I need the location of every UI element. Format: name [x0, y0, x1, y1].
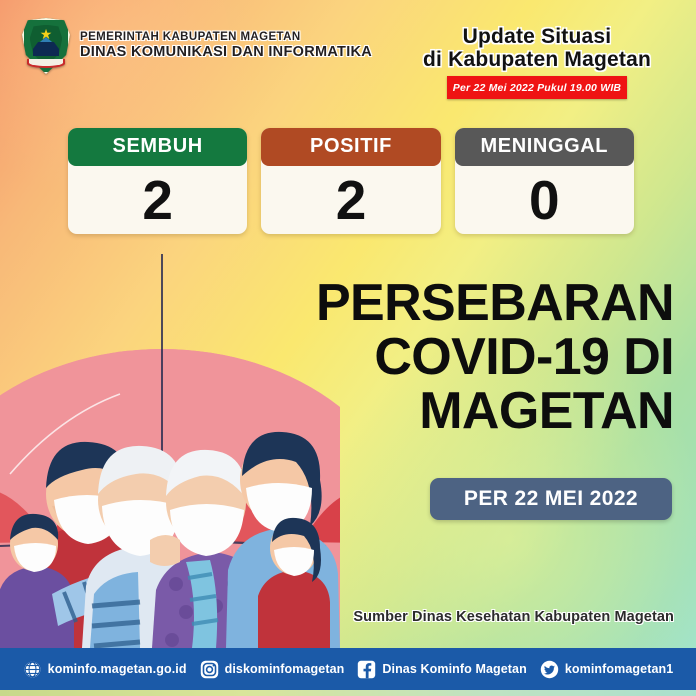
stat-card-sembuh: SEMBUH 2 [68, 128, 247, 234]
stat-card-header: MENINGGAL [455, 128, 634, 166]
stat-card-positif: POSITIF 2 [261, 128, 440, 234]
timestamp-ribbon: Per 22 Mei 2022 Pukul 19.00 WIB [447, 76, 627, 99]
stat-card-header: SEMBUH [68, 128, 247, 166]
stat-value-box: 2 [261, 166, 440, 234]
magetan-regency-crest-icon: ★ [22, 18, 70, 74]
date-badge: PER 22 MEI 2022 [430, 478, 672, 520]
footer-label-facebook: Dinas Kominfo Magetan [382, 662, 526, 676]
stat-value: 2 [336, 173, 367, 228]
update-header: Update Situasi di Kabupaten Magetan Per … [402, 26, 672, 99]
footer-label-website: kominfo.magetan.go.id [48, 662, 187, 676]
footer-item-facebook[interactable]: Dinas Kominfo Magetan [357, 660, 526, 679]
covid-update-poster: ★ PEMERINTAH KABUPATEN MAGETAN DINAS KOM… [0, 0, 696, 696]
timestamp-text: Per 22 Mei 2022 Pukul 19.00 WIB [453, 82, 621, 94]
stat-value: 2 [142, 173, 173, 228]
department-name: DINAS KOMUNIKASI DAN INFORMATIKA [80, 44, 372, 60]
facebook-icon [357, 660, 376, 679]
footer-item-instagram[interactable]: diskominfomagetan [200, 660, 345, 679]
title-line-1: PERSEBARAN [234, 276, 674, 330]
stat-value-box: 2 [68, 166, 247, 234]
footer-item-website[interactable]: kominfo.magetan.go.id [23, 660, 187, 679]
update-title-line1: Update Situasi [402, 26, 672, 49]
globe-icon [23, 660, 42, 679]
instagram-icon [200, 660, 219, 679]
stat-value: 0 [529, 173, 560, 228]
statistics-cards: SEMBUH 2 POSITIF 2 MENINGGAL 0 [68, 128, 634, 234]
footer-label-instagram: diskominfomagetan [225, 662, 345, 676]
organization-header: ★ PEMERINTAH KABUPATEN MAGETAN DINAS KOM… [22, 18, 372, 74]
stat-card-meninggal: MENINGGAL 0 [455, 128, 634, 234]
stat-label: POSITIF [310, 135, 392, 157]
title-line-2: COVID-19 DI [234, 330, 674, 384]
source-text: Sumber Dinas Kesehatan Kabupaten Magetan [353, 609, 674, 625]
stat-value-box: 0 [455, 166, 634, 234]
government-name: PEMERINTAH KABUPATEN MAGETAN [80, 31, 372, 44]
footer-item-twitter[interactable]: kominfomagetan1 [540, 660, 673, 679]
stat-label: MENINGGAL [481, 135, 609, 157]
page-title: PERSEBARAN COVID-19 DI MAGETAN [234, 276, 674, 438]
date-badge-text: PER 22 MEI 2022 [464, 487, 638, 510]
update-title-line2: di Kabupaten Magetan [402, 49, 672, 72]
title-line-3: MAGETAN [234, 384, 674, 438]
footer-bottom-strip [0, 690, 696, 696]
stat-card-header: POSITIF [261, 128, 440, 166]
social-media-footer: kominfo.magetan.go.id diskominfomagetan … [0, 648, 696, 690]
source-attribution: Sumber Dinas Kesehatan Kabupaten Magetan [353, 608, 674, 626]
footer-label-twitter: kominfomagetan1 [565, 662, 673, 676]
stat-label: SEMBUH [113, 135, 203, 157]
twitter-icon [540, 660, 559, 679]
